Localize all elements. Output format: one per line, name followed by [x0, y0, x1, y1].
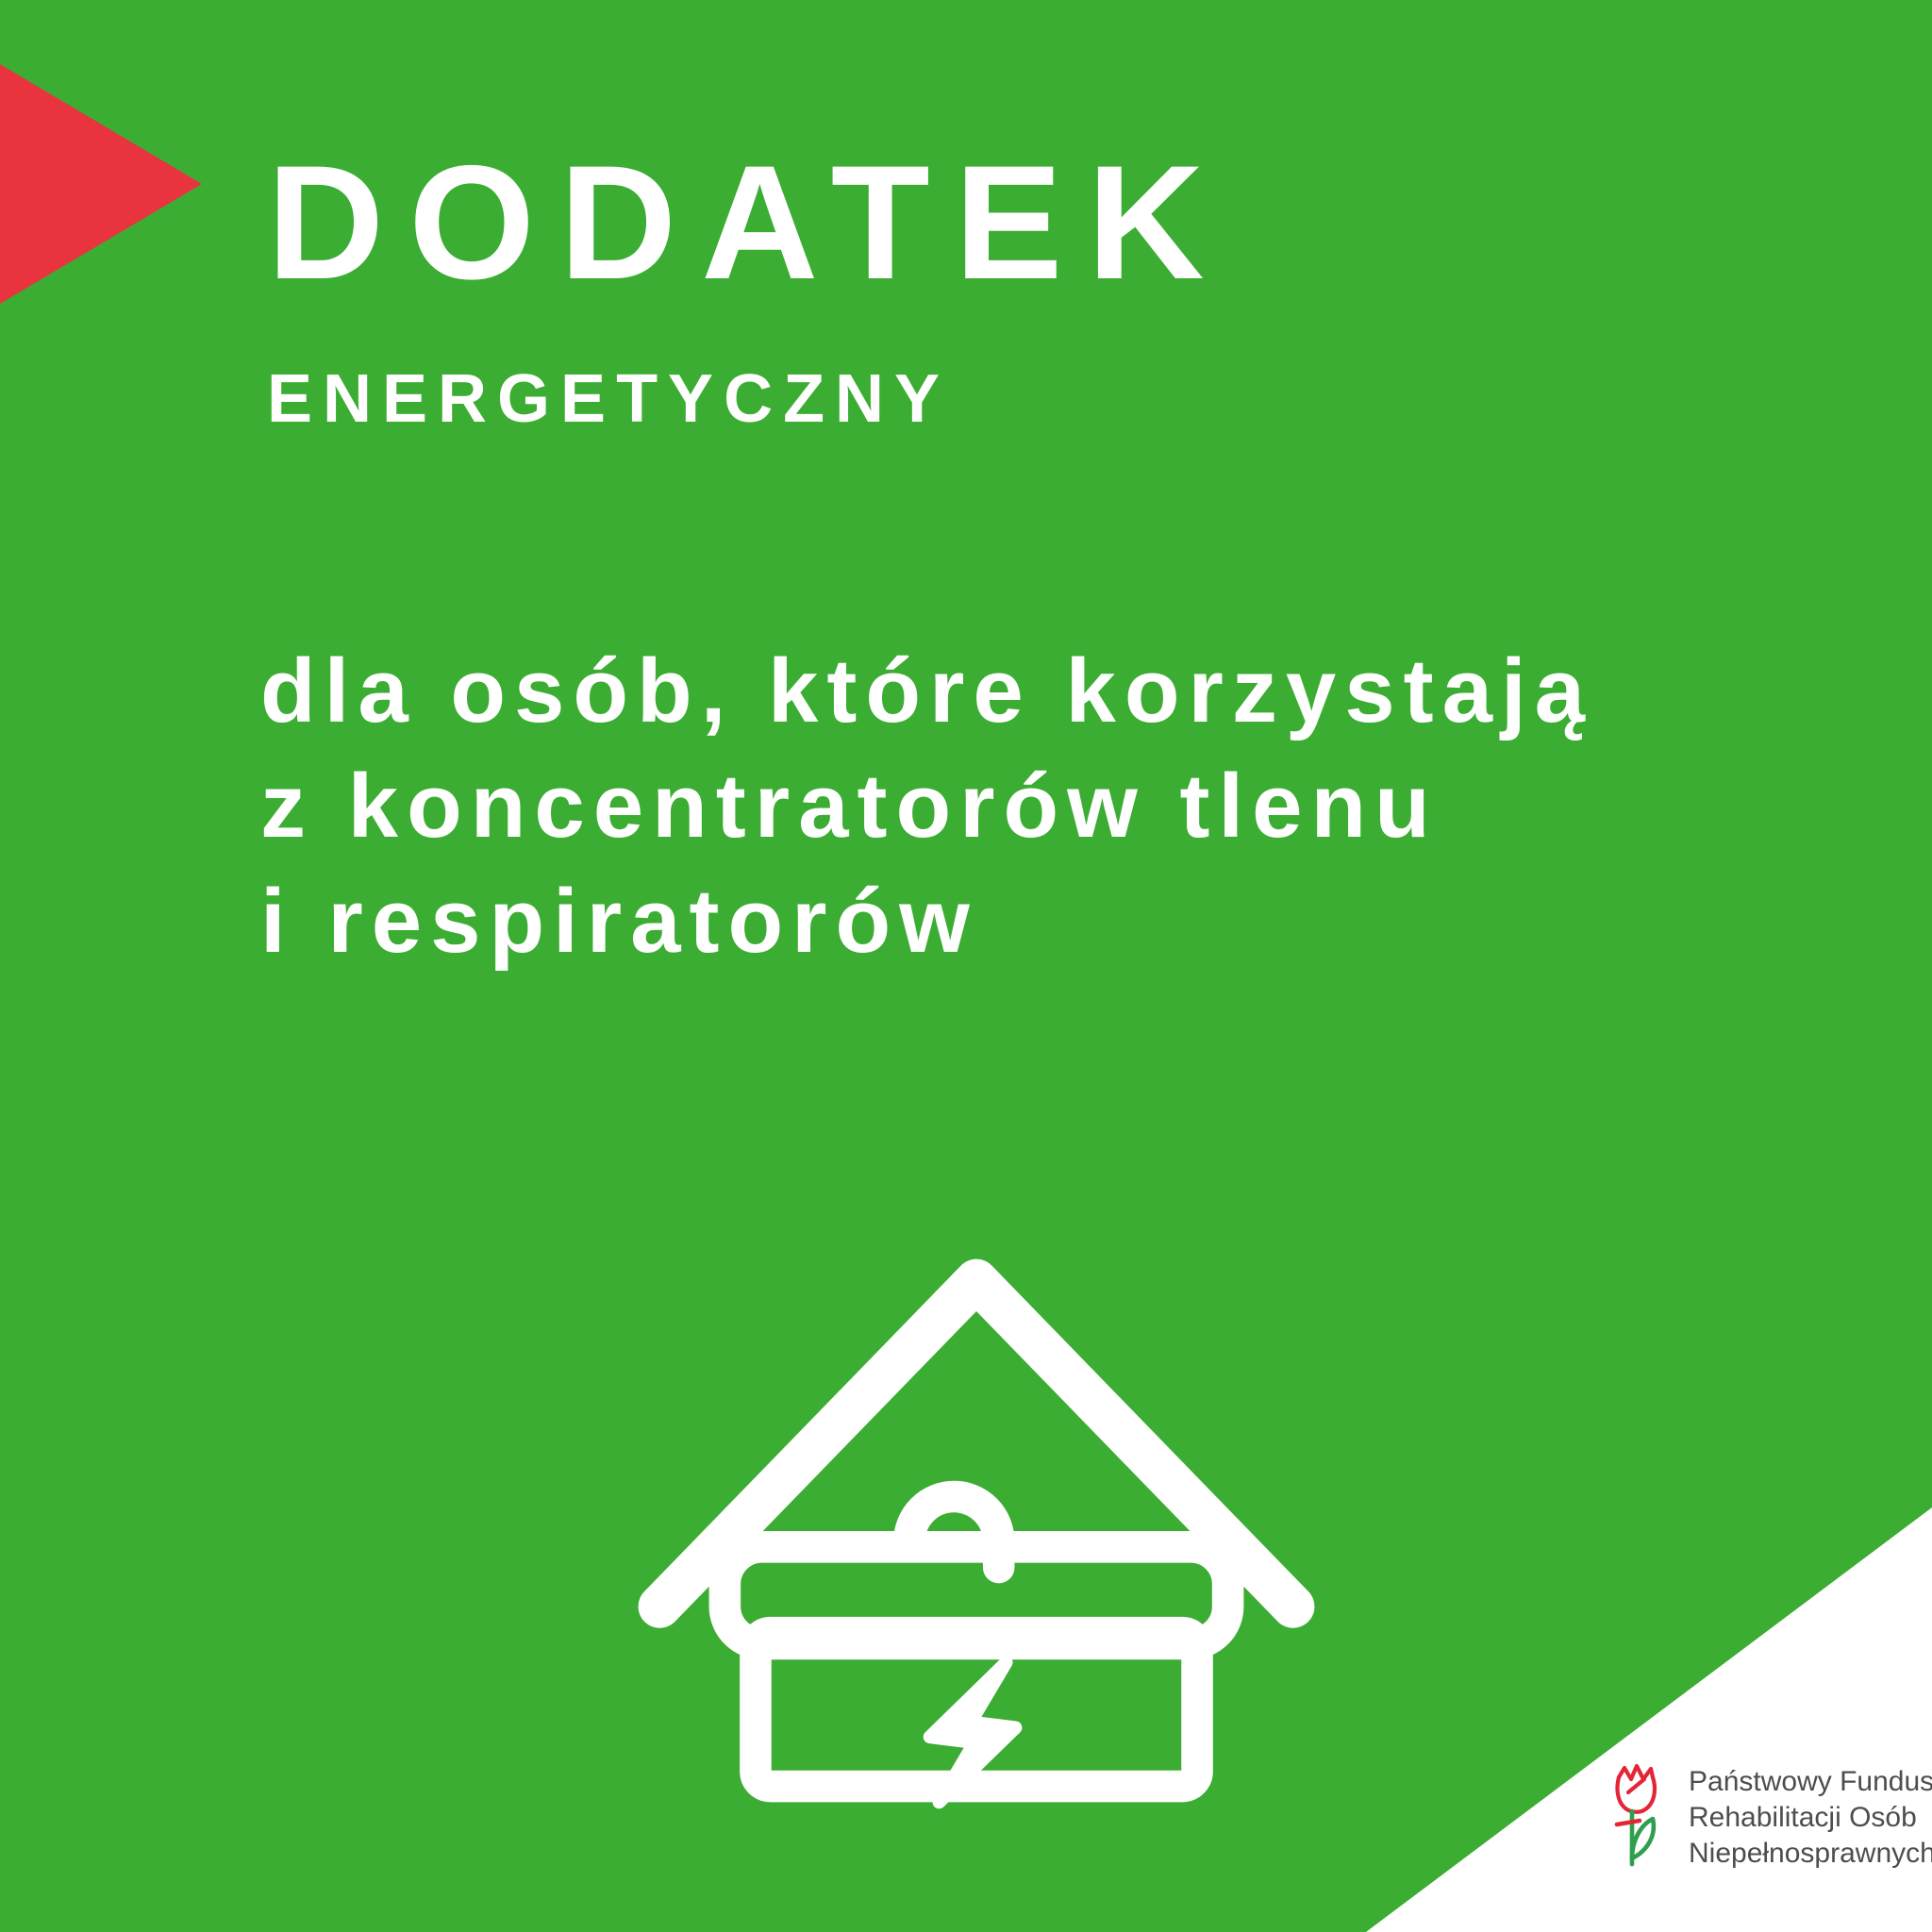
body-line-2: z koncentratorów tlenu	[260, 749, 1883, 864]
house-with-battery-icon	[604, 1085, 1349, 1830]
poster: DODATEK ENERGETYCZNY dla osób, które kor…	[0, 0, 1932, 1932]
body-copy: dla osób, które korzystają z koncentrato…	[260, 634, 1883, 979]
pfron-logo-line-1: Państwowy Fundusz	[1689, 1764, 1932, 1800]
pfron-logo-line-3: Niepełnosprawnych	[1689, 1836, 1932, 1872]
body-line-1: dla osób, które korzystają	[260, 634, 1883, 749]
pfron-logo-text: Państwowy Fundusz Rehabilitacji Osób Nie…	[1689, 1753, 1932, 1872]
page-title: DODATEK	[267, 142, 1776, 304]
page-subtitle: ENERGETYCZNY	[267, 365, 1776, 433]
pfron-logo: Państwowy Fundusz Rehabilitacji Osób Nie…	[1604, 1753, 1932, 1872]
headline-block: DODATEK ENERGETYCZNY	[267, 142, 1776, 433]
pfron-logo-line-2: Rehabilitacji Osób	[1689, 1800, 1932, 1836]
pfron-tulip-logo-icon	[1604, 1753, 1674, 1872]
body-line-3: i respiratorów	[260, 864, 1883, 979]
